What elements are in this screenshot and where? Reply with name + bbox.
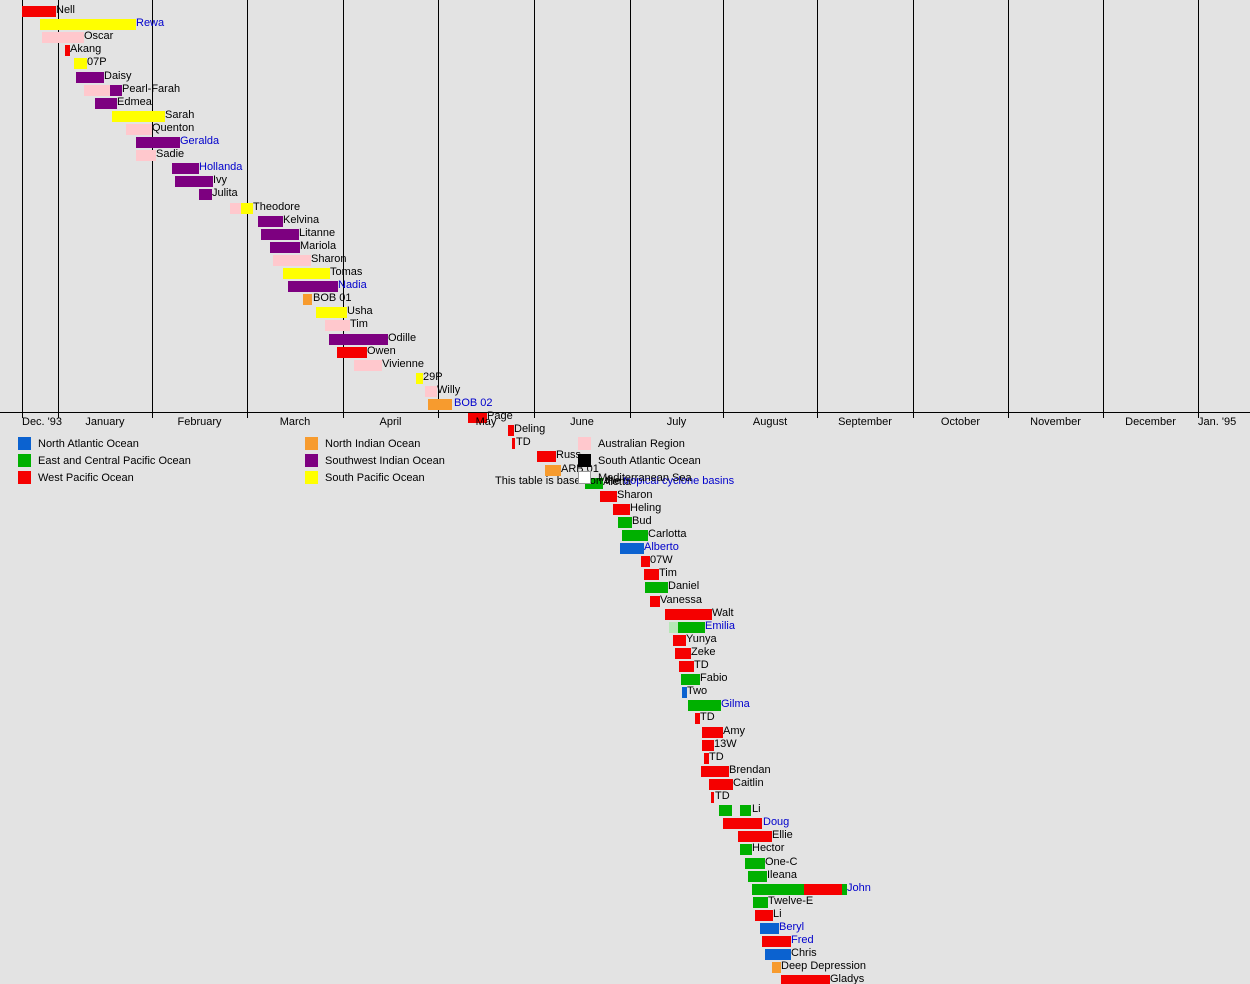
month-label-dec-93: Dec. '93 — [22, 416, 58, 428]
storm-row: Heling — [0, 504, 1250, 515]
month-label-jan-95: Jan. '95 — [1198, 416, 1235, 428]
storm-row: Oscar — [0, 32, 1250, 43]
legend-swatch-north-atlantic — [18, 437, 31, 450]
storm-bar-segment — [760, 923, 779, 934]
storm-row: Hector — [0, 844, 1250, 855]
storm-row: Sadie — [0, 150, 1250, 161]
storm-label: Daisy — [104, 70, 132, 83]
storm-label[interactable]: John — [847, 882, 871, 895]
storm-row: Kelvina — [0, 216, 1250, 227]
storm-row: Bud — [0, 517, 1250, 528]
basin-legend: This table is based on the tropical cycl… — [0, 433, 1250, 492]
storm-row: 07P — [0, 58, 1250, 69]
storm-label: Pearl-Farah — [122, 83, 180, 96]
legend-label-south-pacific: South Pacific Ocean — [325, 472, 425, 484]
legend-item-south-atlantic: South Atlantic Ocean — [578, 454, 701, 467]
storm-row: One-C — [0, 858, 1250, 869]
cyclone-timeline-chart: NellRewaOscarAkang07PDaisyPearl-FarahEdm… — [0, 0, 1250, 413]
storm-row: Sharon — [0, 255, 1250, 266]
storm-label: Bud — [632, 515, 652, 528]
storm-bar-segment — [644, 569, 659, 580]
storm-label[interactable]: Alberto — [644, 541, 679, 554]
storm-bar-segment — [745, 858, 765, 869]
storm-row: Alberto — [0, 543, 1250, 554]
storm-label: Walt — [712, 607, 734, 620]
storm-bar-segment — [316, 307, 347, 318]
storm-label[interactable]: Beryl — [779, 921, 804, 934]
storm-label: Julita — [212, 187, 238, 200]
legend-item-north-atlantic: North Atlantic Ocean — [18, 437, 139, 450]
legend-label-south-atlantic: South Atlantic Ocean — [598, 455, 701, 467]
storm-row: Litanne — [0, 229, 1250, 240]
storm-row: Odille — [0, 334, 1250, 345]
storm-label: Sarah — [165, 109, 194, 122]
storm-label: Twelve-E — [768, 895, 813, 908]
month-label-june: June — [534, 416, 630, 428]
storm-row: Daisy — [0, 72, 1250, 83]
month-label-april: April — [343, 416, 438, 428]
storm-bar-segment — [688, 700, 721, 711]
storm-bar-segment — [738, 831, 772, 842]
storm-label: 29P — [423, 371, 443, 384]
storm-label: Zeke — [691, 646, 715, 659]
storm-row: Beryl — [0, 923, 1250, 934]
storm-bar-segment — [337, 347, 367, 358]
storm-label: 07W — [650, 554, 673, 567]
storm-label[interactable]: BOB 02 — [454, 397, 493, 410]
storm-row: Edmea — [0, 98, 1250, 109]
storm-label: Nell — [56, 4, 75, 17]
storm-label: Li — [752, 803, 761, 816]
storm-label: Carlotta — [648, 528, 687, 541]
storm-label[interactable]: Doug — [763, 816, 789, 829]
storm-bar-segment — [765, 949, 791, 960]
storm-label: Brendan — [729, 764, 771, 777]
storm-bar-segment — [781, 975, 830, 984]
month-label-july: July — [630, 416, 723, 428]
storm-bar-segment — [241, 203, 253, 214]
storm-bar-segment — [709, 779, 733, 790]
storm-bar-segment — [673, 635, 686, 646]
storm-bar-segment — [678, 622, 705, 633]
storm-bar-segment — [804, 884, 842, 895]
storm-row: John — [0, 884, 1250, 895]
storm-label: BOB 01 — [313, 292, 352, 305]
storm-bar-segment — [748, 871, 767, 882]
storm-label: Ileana — [767, 869, 797, 882]
legend-swatch-east-central-pacific — [18, 454, 31, 467]
storm-label: Vivienne — [382, 358, 424, 371]
storm-label: Sharon — [311, 253, 346, 266]
storm-row: Tim — [0, 320, 1250, 331]
storm-label: Caitlin — [733, 777, 764, 790]
storm-label: Two — [687, 685, 707, 698]
storm-bar-segment — [740, 805, 751, 816]
month-label-december: December — [1103, 416, 1198, 428]
legend-swatch-southwest-indian — [305, 454, 318, 467]
storm-row: TD — [0, 661, 1250, 672]
storm-row: Theodore — [0, 203, 1250, 214]
storm-label: One-C — [765, 856, 797, 869]
month-label-october: October — [913, 416, 1008, 428]
storm-label: Vanessa — [660, 594, 702, 607]
legend-swatch-south-pacific — [305, 471, 318, 484]
storm-row: Quenton — [0, 124, 1250, 135]
storm-row: 29P — [0, 373, 1250, 384]
storm-label: Akang — [70, 43, 101, 56]
legend-swatch-mediterranean — [578, 471, 591, 484]
storm-bar-segment — [354, 360, 382, 371]
storm-label: Fabio — [700, 672, 728, 685]
storm-row: Sarah — [0, 111, 1250, 122]
storm-bar-segment — [136, 137, 180, 148]
storm-row: Li — [0, 805, 1250, 816]
storm-label: Theodore — [253, 201, 300, 214]
storm-bar-segment — [283, 268, 330, 279]
storm-bar-segment — [136, 150, 156, 161]
storm-row: Fred — [0, 936, 1250, 947]
storm-row: BOB 02 — [0, 399, 1250, 410]
storm-label[interactable]: Hollanda — [199, 161, 242, 174]
storm-label: Litanne — [299, 227, 335, 240]
storm-row: 07W — [0, 556, 1250, 567]
storm-label: Tomas — [330, 266, 362, 279]
storm-label[interactable]: Nadia — [338, 279, 367, 292]
storm-bar-segment — [702, 727, 723, 738]
storm-row: Usha — [0, 307, 1250, 318]
legend-swatch-south-atlantic — [578, 454, 591, 467]
storm-row: Akang — [0, 45, 1250, 56]
storm-bar-segment — [42, 32, 84, 43]
storm-bar-segment — [270, 242, 300, 253]
storm-bar-segment — [740, 844, 752, 855]
storm-label: Odille — [388, 332, 416, 345]
legend-swatch-west-pacific — [18, 471, 31, 484]
storm-bar-segment — [76, 72, 104, 83]
storm-row: Daniel — [0, 582, 1250, 593]
storm-label: Kelvina — [283, 214, 319, 227]
month-label-november: November — [1008, 416, 1103, 428]
storm-row: Twelve-E — [0, 897, 1250, 908]
month-axis-labels: Dec. '93JanuaryFebruaryMarchAprilMayJune… — [0, 416, 1250, 432]
storm-bar-segment — [258, 216, 283, 227]
storm-row: TD — [0, 713, 1250, 724]
storm-bar-segment — [416, 373, 423, 384]
storm-label: Daniel — [668, 580, 699, 593]
storm-row: Nadia — [0, 281, 1250, 292]
storm-bar-segment — [22, 6, 56, 17]
storm-row: Pearl-Farah — [0, 85, 1250, 96]
storm-row: Amy — [0, 727, 1250, 738]
storm-bar-segment — [719, 805, 732, 816]
x-axis-line — [0, 412, 1250, 413]
storm-label: Usha — [347, 305, 373, 318]
storm-row: Vanessa — [0, 596, 1250, 607]
legend-label-australian: Australian Region — [598, 438, 685, 450]
storm-row: Gilma — [0, 700, 1250, 711]
storm-bar-segment — [172, 163, 199, 174]
storm-label: Willy — [437, 384, 460, 397]
storm-label: 13W — [714, 738, 737, 751]
storm-label[interactable]: Rewa — [136, 17, 164, 30]
storm-row: Yunya — [0, 635, 1250, 646]
storm-row: Two — [0, 687, 1250, 698]
legend-swatch-north-indian — [305, 437, 318, 450]
storm-label: Chris — [791, 947, 817, 960]
storm-label: Li — [773, 908, 782, 921]
storm-row: Tomas — [0, 268, 1250, 279]
storm-label: Ellie — [772, 829, 793, 842]
storm-bar-segment — [641, 556, 650, 567]
legend-item-south-pacific: South Pacific Ocean — [305, 471, 425, 484]
storm-bar-segment — [613, 504, 630, 515]
legend-item-southwest-indian: Southwest Indian Ocean — [305, 454, 445, 467]
storm-label: TD — [700, 711, 715, 724]
storm-row: Brendan — [0, 766, 1250, 777]
storm-bar-segment — [645, 582, 668, 593]
storm-bar-segment — [702, 740, 714, 751]
legend-label-east-central-pacific: East and Central Pacific Ocean — [38, 455, 191, 467]
month-label-february: February — [152, 416, 247, 428]
storm-label[interactable]: Geralda — [180, 135, 219, 148]
storm-row: Ivy — [0, 176, 1250, 187]
storm-row: Fabio — [0, 674, 1250, 685]
legend-item-west-pacific: West Pacific Ocean — [18, 471, 134, 484]
storm-bar-segment — [669, 622, 678, 633]
storm-bar-segment — [303, 294, 312, 305]
storm-row: Owen — [0, 347, 1250, 358]
storm-label: Tim — [659, 567, 677, 580]
storm-bar-segment — [772, 962, 781, 973]
storm-bar-segment — [681, 674, 700, 685]
storm-bar-segment — [84, 85, 110, 96]
legend-label-mediterranean: Mediterranean Sea — [598, 472, 692, 484]
storm-row: Chris — [0, 949, 1250, 960]
storm-label: Oscar — [84, 30, 113, 43]
storm-label[interactable]: Fred — [791, 934, 814, 947]
legend-item-north-indian: North Indian Ocean — [305, 437, 420, 450]
storm-bar-segment — [675, 648, 691, 659]
storm-bar-segment — [175, 176, 213, 187]
storm-row: Sharon — [0, 491, 1250, 502]
storm-bar-segment — [711, 792, 714, 803]
storm-bar-segment — [755, 910, 773, 921]
storm-bar-segment — [112, 111, 165, 122]
storm-row: Gladys — [0, 975, 1250, 984]
storm-label[interactable]: Gilma — [721, 698, 750, 711]
storm-label: TD — [709, 751, 724, 764]
storm-bar-segment — [618, 517, 632, 528]
storm-row: Julita — [0, 189, 1250, 200]
storm-bar-segment — [261, 229, 299, 240]
month-label-january: January — [58, 416, 152, 428]
storm-label: 07P — [87, 56, 107, 69]
storm-bar-segment — [762, 936, 791, 947]
storm-bar-segment — [753, 897, 768, 908]
storm-row: Emilia — [0, 622, 1250, 633]
storm-label: Tim — [350, 318, 368, 331]
storm-label: Quenton — [152, 122, 194, 135]
storm-bar-segment — [622, 530, 648, 541]
storm-label: Heling — [630, 502, 661, 515]
storm-bar-segment — [679, 661, 694, 672]
storm-bar-segment — [425, 386, 437, 397]
storm-label: Mariola — [300, 240, 336, 253]
legend-label-west-pacific: West Pacific Ocean — [38, 472, 134, 484]
storm-row: TD — [0, 792, 1250, 803]
storm-bar-segment — [110, 85, 122, 96]
storm-label: TD — [715, 790, 730, 803]
storm-row: Walt — [0, 609, 1250, 620]
storm-row: BOB 01 — [0, 294, 1250, 305]
storm-bar-segment — [752, 884, 804, 895]
storm-bar-segment — [701, 766, 729, 777]
legend-item-mediterranean: Mediterranean Sea — [578, 471, 692, 484]
storm-row: Willy — [0, 386, 1250, 397]
storm-label: Gladys — [830, 973, 864, 984]
month-label-august: August — [723, 416, 817, 428]
storm-bar-segment — [273, 255, 311, 266]
storm-row: 13W — [0, 740, 1250, 751]
storm-row: Zeke — [0, 648, 1250, 659]
storm-bar-segment — [74, 58, 87, 69]
legend-label-north-indian: North Indian Ocean — [325, 438, 420, 450]
storm-row: Deep Depression — [0, 962, 1250, 973]
legend-label-north-atlantic: North Atlantic Ocean — [38, 438, 139, 450]
storm-row: Doug — [0, 818, 1250, 829]
storm-label: Ivy — [213, 174, 227, 187]
storm-row: TD — [0, 753, 1250, 764]
legend-item-australian: Australian Region — [578, 437, 685, 450]
storm-bar-segment — [600, 491, 617, 502]
storm-bar-segment — [325, 320, 350, 331]
storm-label: Hector — [752, 842, 784, 855]
legend-item-east-central-pacific: East and Central Pacific Ocean — [18, 454, 191, 467]
storm-label: Owen — [367, 345, 396, 358]
storm-label: Sadie — [156, 148, 184, 161]
storm-bar-segment — [40, 19, 136, 30]
storm-row: Ileana — [0, 871, 1250, 882]
storm-row: Rewa — [0, 19, 1250, 30]
storm-label: TD — [694, 659, 709, 672]
storm-bar-segment — [620, 543, 644, 554]
storm-bar-segment — [288, 281, 338, 292]
legend-label-southwest-indian: Southwest Indian Ocean — [325, 455, 445, 467]
month-label-march: March — [247, 416, 343, 428]
storm-row: Carlotta — [0, 530, 1250, 541]
storm-row: Caitlin — [0, 779, 1250, 790]
storm-label[interactable]: Emilia — [705, 620, 735, 633]
storm-row: Geralda — [0, 137, 1250, 148]
month-label-september: September — [817, 416, 913, 428]
storm-row: Ellie — [0, 831, 1250, 842]
storm-label: Edmea — [117, 96, 152, 109]
storm-label: Yunya — [686, 633, 717, 646]
storm-row: Nell — [0, 6, 1250, 17]
month-label-may: May — [438, 416, 534, 428]
storm-bar-segment — [230, 203, 241, 214]
storm-label: Amy — [723, 725, 745, 738]
storm-row: Tim — [0, 569, 1250, 580]
storm-bar-segment — [650, 596, 660, 607]
storm-row: Li — [0, 910, 1250, 921]
storm-row: Hollanda — [0, 163, 1250, 174]
storm-label: Deep Depression — [781, 960, 866, 973]
storm-bar-segment — [329, 334, 388, 345]
storm-bar-segment — [723, 818, 762, 829]
storm-bar-segment — [428, 399, 452, 410]
storm-bar-segment — [95, 98, 117, 109]
storm-row: Mariola — [0, 242, 1250, 253]
storm-bar-segment — [199, 189, 212, 200]
storm-row: Vivienne — [0, 360, 1250, 371]
legend-swatch-australian — [578, 437, 591, 450]
storm-bar-segment — [126, 124, 152, 135]
storm-bar-segment — [665, 609, 712, 620]
